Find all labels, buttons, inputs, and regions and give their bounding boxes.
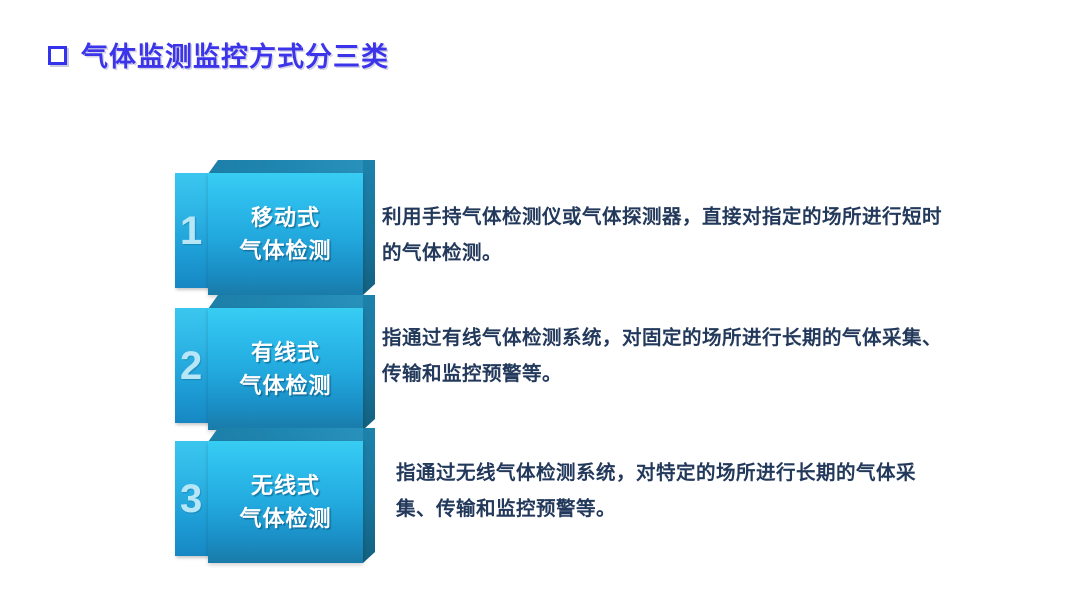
- category-box-2[interactable]: 有线式 气体检测: [208, 295, 375, 430]
- category-description-3: 指通过无线气体检测系统，对特定的场所进行长期的气体采集、传输和监控预警等。: [396, 456, 944, 528]
- category-list: 1 移动式 气体检测 利用手持气体检测仪或气体探测器，直接对指定的场所进行短时的…: [0, 0, 1080, 608]
- category-description-1: 利用手持气体检测仪或气体探测器，直接对指定的场所进行短时的气体检测。: [382, 200, 942, 272]
- category-title-line1-3: 无线式: [251, 472, 320, 500]
- category-title-line1-1: 移动式: [251, 204, 320, 232]
- box-top-bevel: [208, 160, 375, 174]
- category-callout-3[interactable]: 3 无线式 气体检测: [175, 428, 375, 563]
- category-title-line2-2: 气体检测: [239, 372, 331, 400]
- category-box-3[interactable]: 无线式 气体检测: [208, 428, 375, 563]
- category-number-1: 1: [180, 211, 202, 251]
- box-front-face: 有线式 气体检测: [208, 308, 363, 430]
- box-top-bevel: [208, 295, 375, 309]
- category-number-2: 2: [180, 346, 202, 386]
- category-title-line2-1: 气体检测: [239, 237, 331, 265]
- box-front-face: 无线式 气体检测: [208, 441, 363, 563]
- category-description-2: 指通过有线气体检测系统，对固定的场所进行长期的气体采集、传输和监控预警等。: [382, 321, 942, 393]
- category-number-3: 3: [180, 479, 202, 519]
- box-right-bevel: [363, 160, 375, 295]
- box-right-bevel: [363, 428, 375, 563]
- category-callout-1[interactable]: 1 移动式 气体检测: [175, 160, 375, 295]
- category-box-1[interactable]: 移动式 气体检测: [208, 160, 375, 295]
- category-callout-2[interactable]: 2 有线式 气体检测: [175, 295, 375, 430]
- box-front-face: 移动式 气体检测: [208, 173, 363, 295]
- category-title-line2-3: 气体检测: [239, 505, 331, 533]
- category-title-line1-2: 有线式: [251, 339, 320, 367]
- box-top-bevel: [208, 428, 375, 442]
- box-right-bevel: [363, 295, 375, 430]
